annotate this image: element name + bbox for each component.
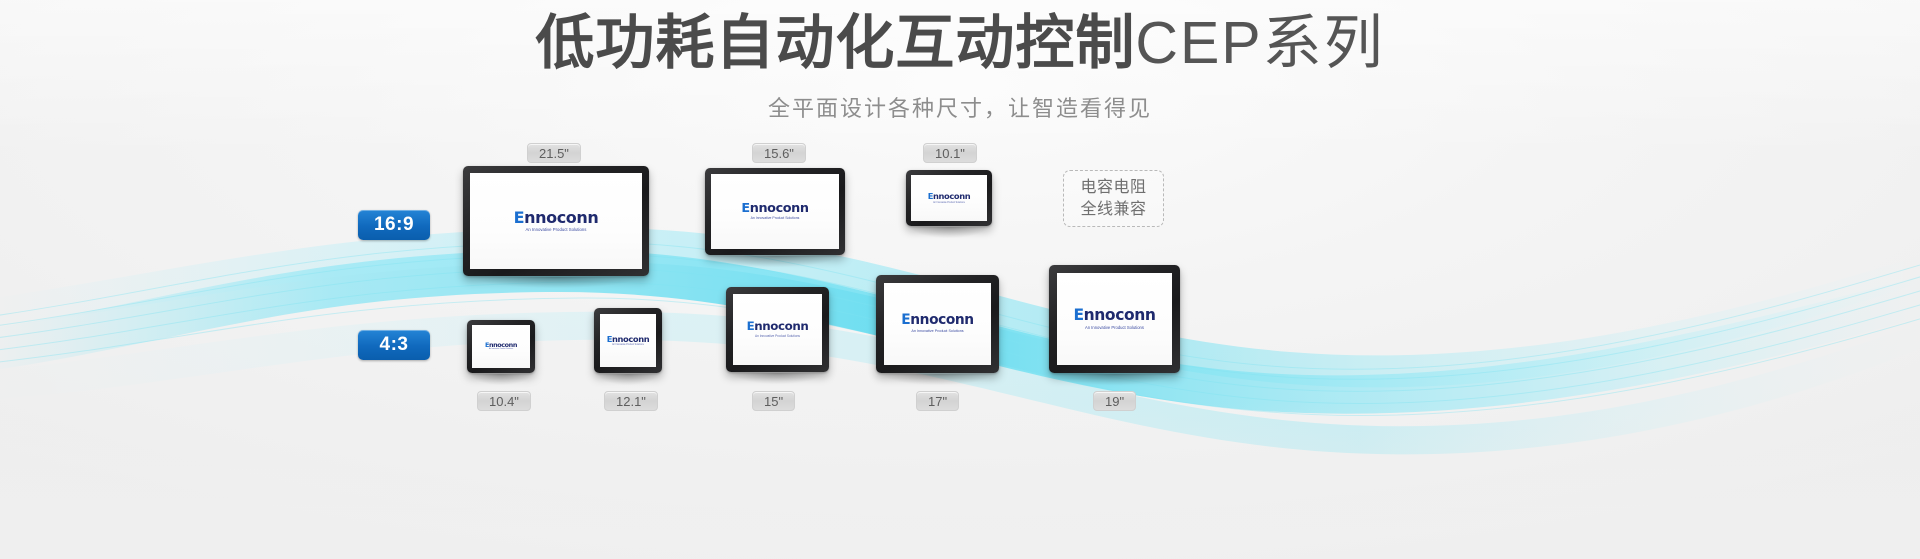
brand-wordmark-rest: nnoconn bbox=[612, 334, 649, 344]
monitor-21-5-screen: EnnoconnAn Innovative Product Solutions bbox=[470, 173, 642, 269]
monitor-12-1: EnnoconnAn Innovative Product Solutions bbox=[594, 308, 662, 373]
monitor-17-size-chip: 17" bbox=[916, 391, 959, 411]
brand-tagline: An Innovative Product Solutions bbox=[489, 349, 513, 351]
monitor-15-6-size-chip: 15.6" bbox=[752, 143, 806, 163]
monitor-17: EnnoconnAn Innovative Product Solutions bbox=[876, 275, 999, 373]
compat-note-line2: 全线兼容 bbox=[1080, 199, 1146, 220]
page-subtitle: 全平面设计各种尺寸，让智造看得见 bbox=[0, 91, 1920, 123]
monitor-15: EnnoconnAn Innovative Product Solutions bbox=[726, 287, 829, 372]
brand-initial: E bbox=[514, 208, 525, 227]
monitor-15-6-screen: EnnoconnAn Innovative Product Solutions bbox=[711, 174, 839, 249]
monitor-17-screen: EnnoconnAn Innovative Product Solutions bbox=[884, 283, 991, 365]
brand-tagline: An Innovative Product Solutions bbox=[612, 344, 644, 346]
monitor-21-5: EnnoconnAn Innovative Product Solutions bbox=[463, 166, 649, 276]
compat-note-line1: 电容电阻 bbox=[1080, 177, 1146, 198]
product-banner: 低功耗自动化互动控制CEP系列 全平面设计各种尺寸，让智造看得见 16:9 4:… bbox=[0, 0, 1920, 559]
monitor-21-5-brand-logo: EnnoconnAn Innovative Product Solutions bbox=[514, 210, 599, 232]
monitor-10-1: EnnoconnAn Innovative Product Solutions bbox=[906, 170, 992, 226]
monitor-15-screen: EnnoconnAn Innovative Product Solutions bbox=[733, 294, 822, 365]
brand-initial: E bbox=[1073, 306, 1083, 324]
monitor-12-1-screen: EnnoconnAn Innovative Product Solutions bbox=[600, 314, 656, 367]
monitor-10-4-screen: EnnoconnAn Innovative Product Solutions bbox=[472, 325, 530, 368]
brand-tagline: An Innovative Product Solutions bbox=[911, 330, 963, 334]
monitor-19: EnnoconnAn Innovative Product Solutions bbox=[1049, 265, 1180, 373]
monitor-15-6: EnnoconnAn Innovative Product Solutions bbox=[705, 168, 845, 255]
brand-tagline: An Innovative Product Solutions bbox=[751, 217, 800, 220]
brand-wordmark: Ennoconn bbox=[741, 203, 808, 216]
brand-tagline: An Innovative Product Solutions bbox=[933, 202, 965, 204]
brand-wordmark-rest: nnoconn bbox=[524, 208, 598, 227]
brand-wordmark-rest: nnoconn bbox=[1084, 306, 1156, 324]
monitor-10-1-size-chip: 10.1" bbox=[923, 143, 977, 163]
monitor-10-1-screen: EnnoconnAn Innovative Product Solutions bbox=[911, 175, 987, 221]
monitor-19-brand-logo: EnnoconnAn Innovative Product Solutions bbox=[1073, 308, 1155, 330]
brand-wordmark: Ennoconn bbox=[747, 321, 809, 333]
monitor-17-brand-logo: EnnoconnAn Innovative Product Solutions bbox=[901, 314, 973, 333]
monitor-10-4-size-chip: 10.4" bbox=[477, 391, 531, 411]
monitor-15-6-brand-logo: EnnoconnAn Innovative Product Solutions bbox=[741, 203, 808, 221]
brand-wordmark-rest: nnoconn bbox=[933, 191, 970, 201]
brand-wordmark: Ennoconn bbox=[1073, 308, 1155, 324]
ratio-badge-16-9: 16:9 bbox=[358, 210, 430, 240]
brand-wordmark: Ennoconn bbox=[901, 314, 973, 328]
page-title-light: CEP系列 bbox=[1135, 10, 1384, 76]
monitor-15-size-chip: 15" bbox=[752, 391, 795, 411]
page-title-bold: 低功耗自动化互动控制 bbox=[535, 10, 1135, 76]
brand-initial: E bbox=[901, 312, 910, 328]
brand-initial: E bbox=[741, 201, 749, 216]
monitor-10-4-brand-logo: EnnoconnAn Innovative Product Solutions bbox=[485, 342, 517, 351]
page-title: 低功耗自动化互动控制CEP系列 bbox=[0, 10, 1920, 78]
brand-tagline: An Innovative Product Solutions bbox=[526, 228, 587, 232]
brand-wordmark-rest: nnoconn bbox=[910, 312, 973, 328]
monitor-10-4: EnnoconnAn Innovative Product Solutions bbox=[467, 320, 535, 373]
monitor-10-1-brand-logo: EnnoconnAn Innovative Product Solutions bbox=[928, 192, 971, 204]
monitor-15-brand-logo: EnnoconnAn Innovative Product Solutions bbox=[747, 321, 809, 338]
headings-block: 低功耗自动化互动控制CEP系列 全平面设计各种尺寸，让智造看得见 bbox=[0, 0, 1920, 123]
monitor-12-1-size-chip: 12.1" bbox=[604, 391, 658, 411]
brand-wordmark: Ennoconn bbox=[514, 210, 599, 226]
brand-wordmark-rest: nnoconn bbox=[754, 319, 808, 333]
monitor-12-1-brand-logo: EnnoconnAn Innovative Product Solutions bbox=[607, 335, 650, 347]
brand-tagline: An Innovative Product Solutions bbox=[1085, 326, 1144, 330]
brand-wordmark: Ennoconn bbox=[928, 192, 971, 200]
monitor-19-size-chip: 19" bbox=[1093, 391, 1136, 411]
monitor-19-screen: EnnoconnAn Innovative Product Solutions bbox=[1057, 273, 1172, 365]
brand-wordmark: Ennoconn bbox=[607, 335, 650, 343]
monitor-21-5-size-chip: 21.5" bbox=[527, 143, 581, 163]
brand-wordmark-rest: nnoconn bbox=[750, 201, 809, 216]
ratio-badge-4-3: 4:3 bbox=[358, 330, 430, 360]
compatibility-note: 电容电阻 全线兼容 bbox=[1063, 170, 1164, 227]
brand-tagline: An Innovative Product Solutions bbox=[755, 335, 800, 338]
